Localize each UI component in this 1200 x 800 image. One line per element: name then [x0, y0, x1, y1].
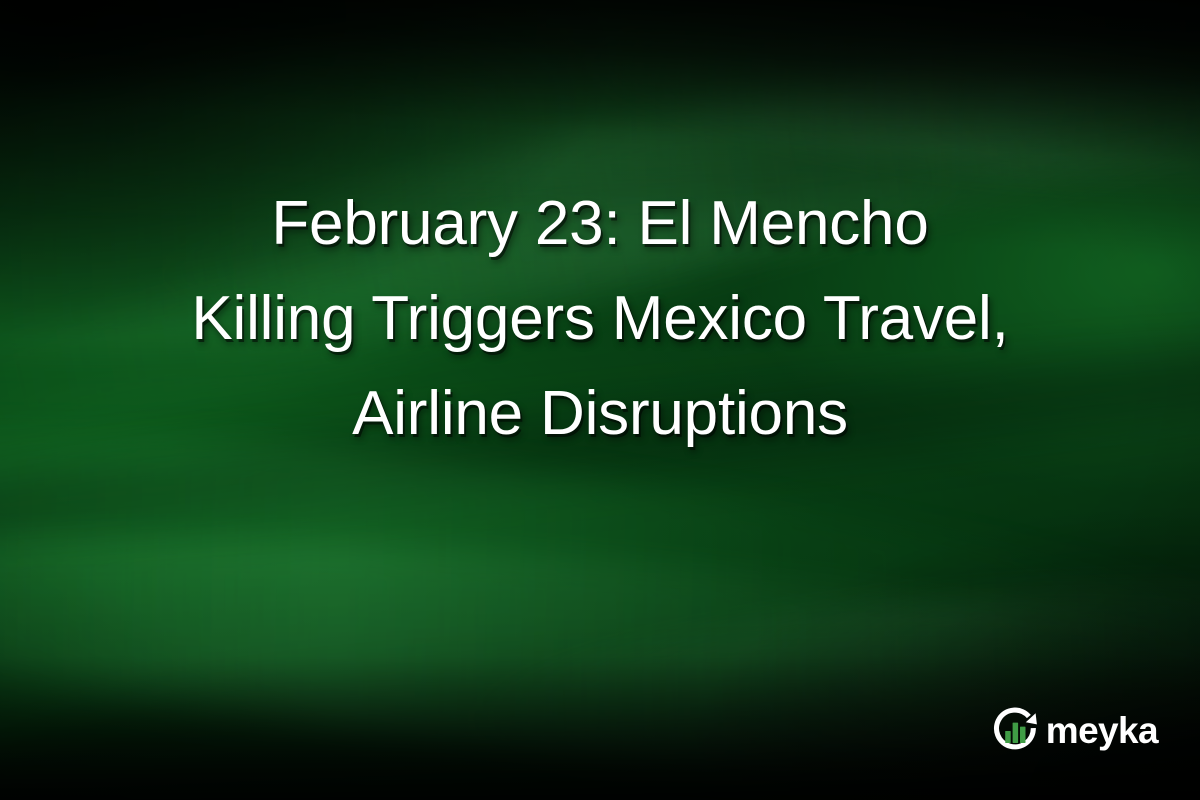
logo-bar-middle [1012, 723, 1018, 743]
meyka-logo[interactable]: meyka [989, 704, 1158, 756]
logo-bar-right [1020, 727, 1026, 743]
meyka-chart-circle-icon [989, 704, 1041, 756]
logo-bar-left [1005, 731, 1011, 743]
headline: February 23: El Mencho Killing Triggers … [0, 176, 1200, 461]
meyka-wordmark: meyka [1046, 712, 1158, 749]
headline-line-2: Killing Triggers Mexico Travel, [56, 271, 1144, 366]
headline-line-1: February 23: El Mencho [56, 176, 1144, 271]
headline-line-3: Airline Disruptions [56, 366, 1144, 461]
news-card: February 23: El Mencho Killing Triggers … [0, 0, 1200, 800]
